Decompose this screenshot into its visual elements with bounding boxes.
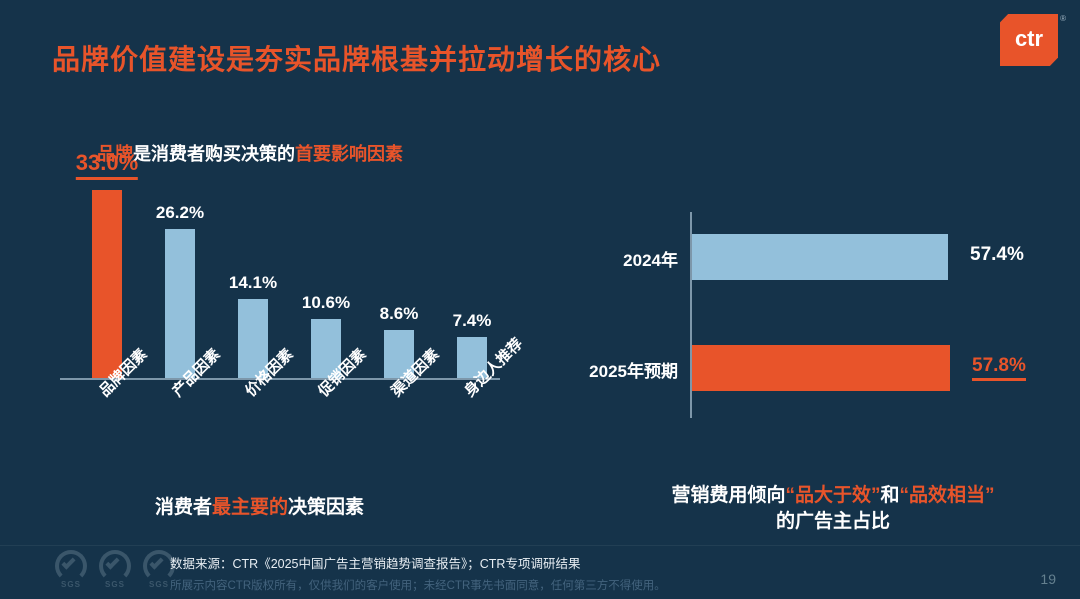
sgs-badge-group: SGSSGSSGS [52,550,178,590]
bar-column: 8.6% [384,190,414,380]
data-source-text: 数据来源：CTR《2025中国广告主营销趋势调查报告》；CTR专项调研结果 [170,553,666,572]
bar-value-label-5: 8.6% [380,304,419,324]
left-chart-subtitle: 品牌是消费者购买决策的首要影响因素 [97,140,403,166]
left-caption-part-1: 最主要的 [212,497,288,518]
footer-text-block: 数据来源：CTR《2025中国广告主营销趋势调查报告》；CTR专项调研结果 所展… [170,553,666,593]
bar-column: 10.6% [311,190,341,380]
left-caption-part-0: 消费者 [155,497,212,518]
bar-column: 14.1% [238,190,268,380]
copyright-text: 所展示内容CTR版权所有，仅供我们的客户使用；未经CTR事先书面同意，任何第三方… [170,577,666,593]
hbar-category-label-2: 2025年预期 [589,357,678,382]
left-chart-caption: 消费者最主要的决策因素 [155,495,364,521]
bar-column: 33.0% [92,190,122,380]
bar-column: 7.4% [457,190,487,380]
sgs-ring-icon [55,550,87,582]
bar-value-label-6: 7.4% [453,311,492,331]
bar-value-label-4: 10.6% [302,293,350,313]
left-subtitle-part-1: 是消费者购买决策的 [133,144,295,164]
slide-canvas: 品牌价值建设是夯实品牌根基并拉动增长的核心 ctr ® 品牌是消费者购买决策的首… [0,0,1080,599]
right-chart-caption: 营销费用倾向“品大于效”和“品效相当”的广告主占比 [613,483,1053,534]
right-caption-l0-part-3: “品效相当” [900,485,995,506]
hbar-category-label-1: 2024年 [623,246,678,271]
sgs-certification-icon: SGS [96,550,134,590]
bar-1 [92,190,122,380]
left-subtitle-part-2: 首要影响因素 [295,144,403,164]
bar-value-label-2: 26.2% [156,203,204,223]
page-number: 19 [1040,571,1056,587]
sgs-badge-label-2: SGS [96,580,134,589]
right-caption-l1-part-0: 的广告主占比 [776,511,890,532]
sgs-ring-icon [99,550,131,582]
right-caption-line-0: 营销费用倾向“品大于效”和“品效相当” [613,483,1053,509]
right-caption-l0-part-2: 和 [881,485,900,506]
bar-value-label-3: 14.1% [229,273,277,293]
right-caption-line-1: 的广告主占比 [613,509,1053,535]
right-caption-l0-part-0: 营销费用倾向 [671,485,785,506]
left-chart-panel: 品牌是消费者购买决策的首要影响因素 33.0%26.2%14.1%10.6%8.… [0,0,540,599]
bar-2 [165,229,195,380]
sgs-certification-icon: SGS [52,550,90,590]
hbar-row [692,345,950,391]
footer-divider [0,545,1080,546]
hbar-row [692,234,948,280]
bar-value-label-1: 33.0% [76,150,138,180]
hbar-2 [692,345,950,391]
bar-column: 26.2% [165,190,195,380]
hbar-value-label-1: 57.4% [970,244,1024,266]
hbar-1 [692,234,948,280]
hbar-value-label-2: 57.8% [972,355,1026,381]
right-caption-l0-part-1: “品大于效” [785,485,880,506]
sgs-badge-label-1: SGS [52,580,90,589]
left-caption-part-2: 决策因素 [288,497,364,518]
